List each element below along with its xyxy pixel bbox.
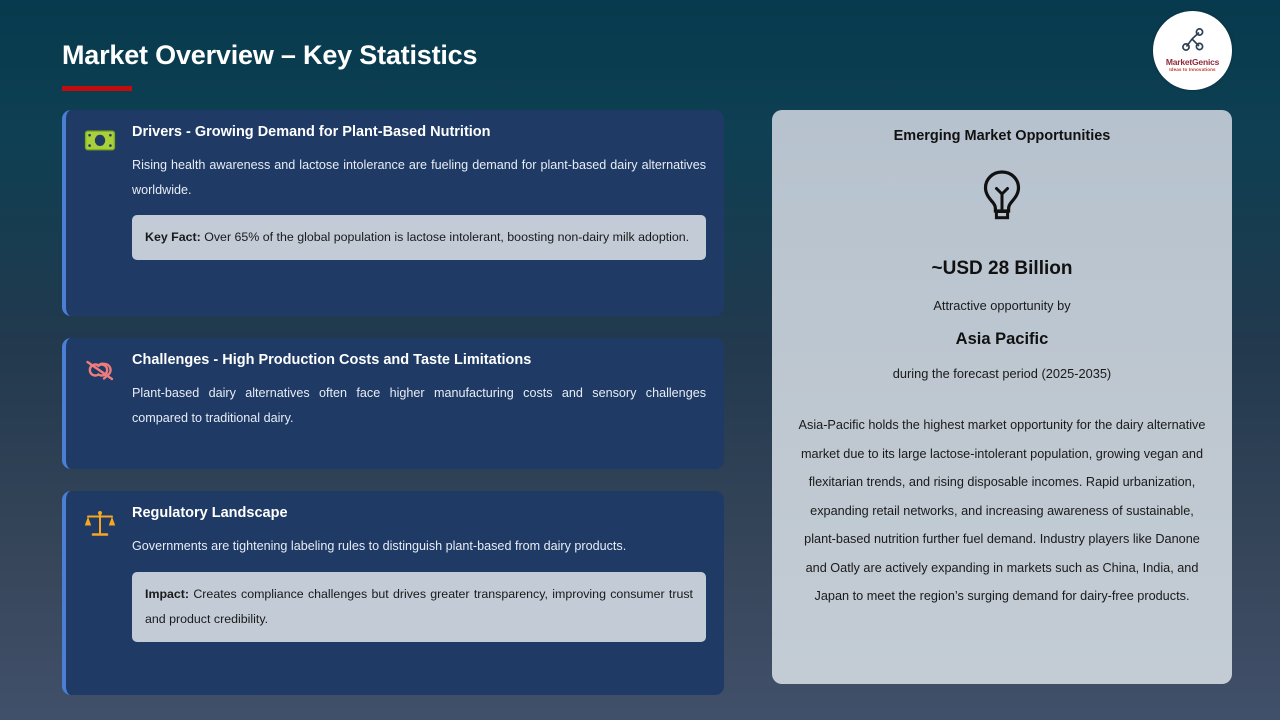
- network-nodes-icon: [1180, 28, 1206, 57]
- banknote-icon: [82, 124, 118, 160]
- opportunity-subtitle: Attractive opportunity by: [794, 298, 1210, 313]
- card-title: Drivers - Growing Demand for Plant-Based…: [132, 124, 706, 141]
- opportunity-paragraph: Asia-Pacific holds the highest market op…: [794, 411, 1210, 611]
- card-title: Regulatory Landscape: [132, 505, 706, 522]
- title-underline-rule: [62, 86, 132, 91]
- emerging-opportunities-panel: Emerging Market Opportunities ~USD 28 Bi…: [772, 110, 1232, 684]
- card-title: Challenges - High Production Costs and T…: [132, 352, 706, 369]
- callout-label: Key Fact:: [145, 230, 201, 244]
- opportunity-period: during the forecast period (2025-2035): [794, 366, 1210, 381]
- impact-callout: Impact: Creates compliance challenges bu…: [132, 572, 706, 642]
- key-fact-callout: Key Fact: Over 65% of the global populat…: [132, 215, 706, 260]
- stat-card-drivers[interactable]: Drivers - Growing Demand for Plant-Based…: [62, 110, 724, 316]
- stat-card-regulatory[interactable]: Regulatory Landscape Governments are tig…: [62, 491, 724, 695]
- broken-link-icon: [82, 352, 118, 388]
- card-description: Governments are tightening labeling rule…: [132, 534, 706, 559]
- brand-logo: MarketGenics Ideas to Innovations: [1153, 11, 1232, 90]
- page-title: Market Overview – Key Statistics: [62, 40, 477, 71]
- card-description: Plant-based dairy alternatives often fac…: [132, 381, 706, 430]
- opportunity-value: ~USD 28 Billion: [794, 258, 1210, 280]
- stat-card-challenges[interactable]: Challenges - High Production Costs and T…: [62, 338, 724, 469]
- callout-text: Over 65% of the global population is lac…: [201, 230, 689, 244]
- card-description: Rising health awareness and lactose into…: [132, 153, 706, 202]
- panel-title: Emerging Market Opportunities: [794, 128, 1210, 144]
- logo-name: MarketGenics: [1166, 58, 1219, 67]
- opportunity-region: Asia Pacific: [794, 330, 1210, 349]
- key-statistics-list: Drivers - Growing Demand for Plant-Based…: [62, 110, 724, 695]
- balance-scales-icon: [82, 505, 118, 541]
- logo-tagline: Ideas to Innovations: [1169, 68, 1215, 73]
- lightbulb-icon: [972, 166, 1032, 226]
- callout-text: Creates compliance challenges but drives…: [145, 587, 693, 626]
- callout-label: Impact:: [145, 587, 189, 601]
